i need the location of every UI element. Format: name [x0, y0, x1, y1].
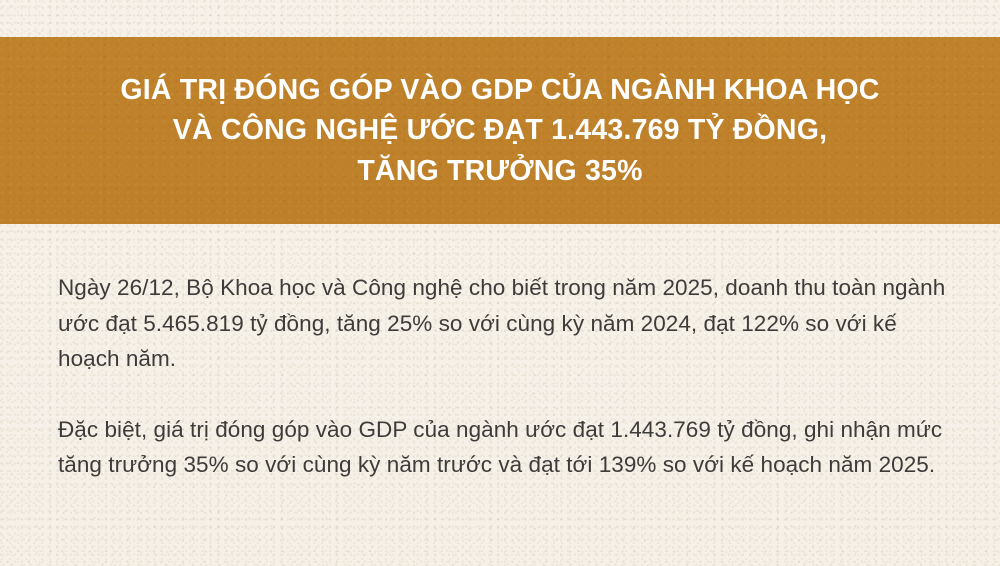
article-paragraph-2: Đặc biệt, giá trị đóng góp vào GDP của n… [58, 412, 946, 483]
headline-banner: GIÁ TRỊ ĐÓNG GÓP VÀO GDP CỦA NGÀNH KHOA … [0, 37, 1000, 224]
article-body: Ngày 26/12, Bộ Khoa học và Công nghệ cho… [58, 270, 946, 483]
infographic-card: GIÁ TRỊ ĐÓNG GÓP VÀO GDP CỦA NGÀNH KHOA … [0, 0, 1000, 566]
article-paragraph-1: Ngày 26/12, Bộ Khoa học và Công nghệ cho… [58, 270, 946, 377]
headline-line-3: TĂNG TRƯỞNG 35% [357, 151, 642, 191]
headline-line-1: GIÁ TRỊ ĐÓNG GÓP VÀO GDP CỦA NGÀNH KHOA … [120, 70, 879, 110]
headline-line-2: VÀ CÔNG NGHỆ ƯỚC ĐẠT 1.443.769 TỶ ĐỒNG, [173, 110, 827, 150]
